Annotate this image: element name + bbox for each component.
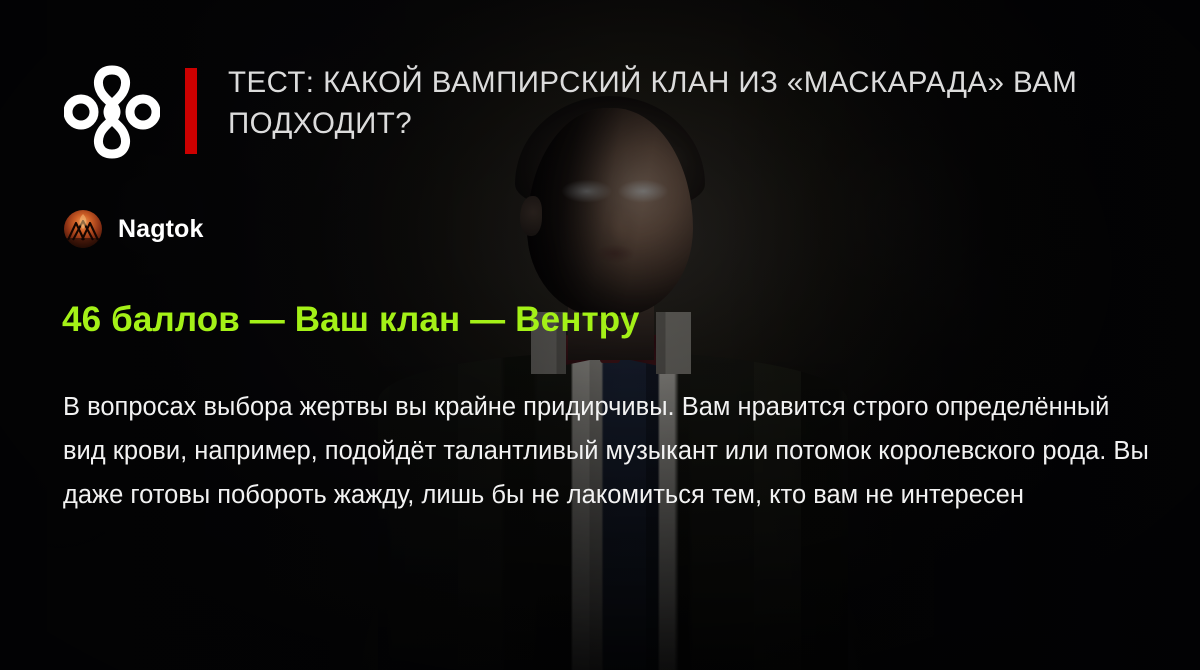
card-header: ТЕСТ: КАКОЙ ВАМПИРСКИЙ КЛАН ИЗ «МАСКАРАД… bbox=[64, 62, 1108, 162]
page-title: ТЕСТ: КАКОЙ ВАМПИРСКИЙ КЛАН ИЗ «МАСКАРАД… bbox=[228, 62, 1108, 144]
dtf-logo-icon[interactable] bbox=[64, 62, 160, 162]
avatar[interactable] bbox=[64, 210, 102, 248]
result-headline: 46 баллов — Ваш клан — Вентру bbox=[62, 300, 639, 340]
card-content: ТЕСТ: КАКОЙ ВАМПИРСКИЙ КЛАН ИЗ «МАСКАРАД… bbox=[0, 0, 1200, 670]
title-accent-rule bbox=[185, 68, 197, 154]
result-description: В вопросах выбора жертвы вы крайне приди… bbox=[63, 385, 1153, 517]
quiz-result-card: ТЕСТ: КАКОЙ ВАМПИРСКИЙ КЛАН ИЗ «МАСКАРАД… bbox=[0, 0, 1200, 670]
author-row[interactable]: Nagtok bbox=[64, 210, 203, 248]
author-name[interactable]: Nagtok bbox=[118, 215, 203, 244]
